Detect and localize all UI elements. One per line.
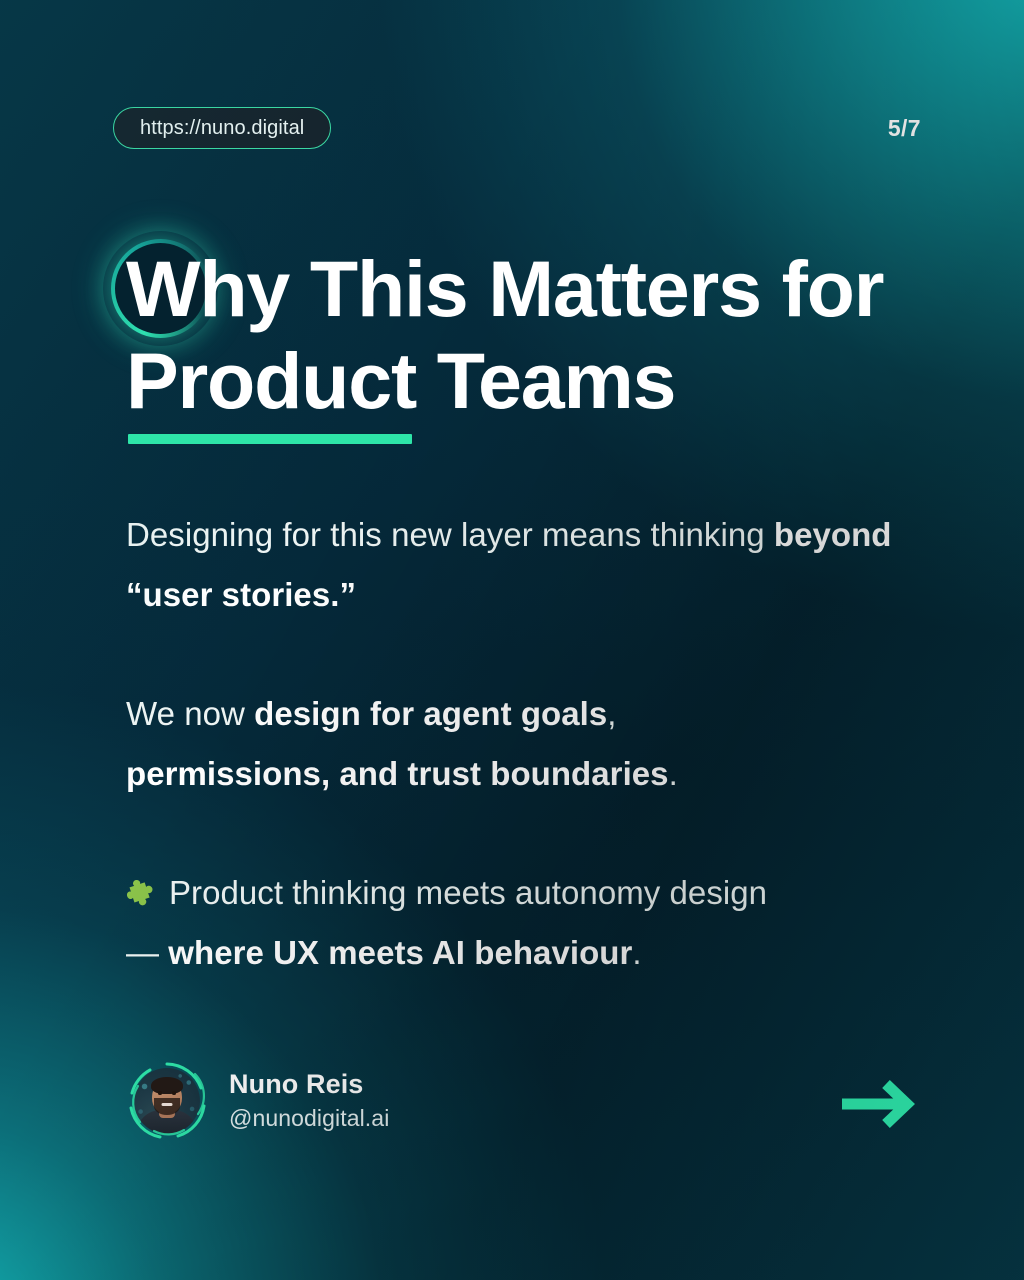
puzzle-piece-icon (126, 875, 160, 909)
author-handle: @nunodigital.ai (229, 1104, 389, 1134)
paragraph-3-end: . (632, 934, 641, 971)
paragraph-2: We now design for agent goals,permission… (126, 684, 946, 805)
author-name: Nuno Reis (229, 1068, 389, 1102)
url-pill[interactable]: https://nuno.digital (113, 107, 331, 149)
title-underline (128, 434, 412, 444)
paragraph-2-regular-start: We now (126, 695, 254, 732)
paragraph-3-regular: Product thinking meets autonomy design (169, 874, 767, 911)
paragraph-2-regular-end: . (669, 755, 678, 792)
paragraph-1: Designing for this new layer means think… (126, 505, 946, 626)
headline-line-1: Why This Matters for (126, 244, 883, 333)
author-footer: Nuno Reis @nunodigital.ai (126, 1060, 389, 1142)
page-counter: 5/7 (888, 115, 921, 142)
body-copy: Designing for this new layer means think… (126, 505, 946, 983)
paragraph-2-bold-1: design for agent goals (254, 695, 607, 732)
avatar (126, 1060, 208, 1142)
paragraph-2-bold-2: permissions, and trust boundaries (126, 755, 669, 792)
slide-canvas: https://nuno.digital 5/7 Why This Matter… (0, 0, 1024, 1280)
paragraph-2-regular-mid: , (607, 695, 616, 732)
arrow-right-icon[interactable] (839, 1075, 919, 1133)
url-label: https://nuno.digital (140, 117, 304, 140)
paragraph-3-dash: — (126, 934, 168, 971)
page-title: Why This Matters for Product Teams (126, 243, 926, 426)
paragraph-3-bold: where UX meets AI behaviour (168, 934, 632, 971)
avatar-ring-icon (126, 1060, 208, 1142)
paragraph-1-regular: Designing for this new layer means think… (126, 516, 774, 553)
paragraph-3: Product thinking meets autonomy design— … (126, 863, 946, 984)
headline-line-2: Product Teams (126, 335, 926, 427)
author-info: Nuno Reis @nunodigital.ai (229, 1068, 389, 1134)
